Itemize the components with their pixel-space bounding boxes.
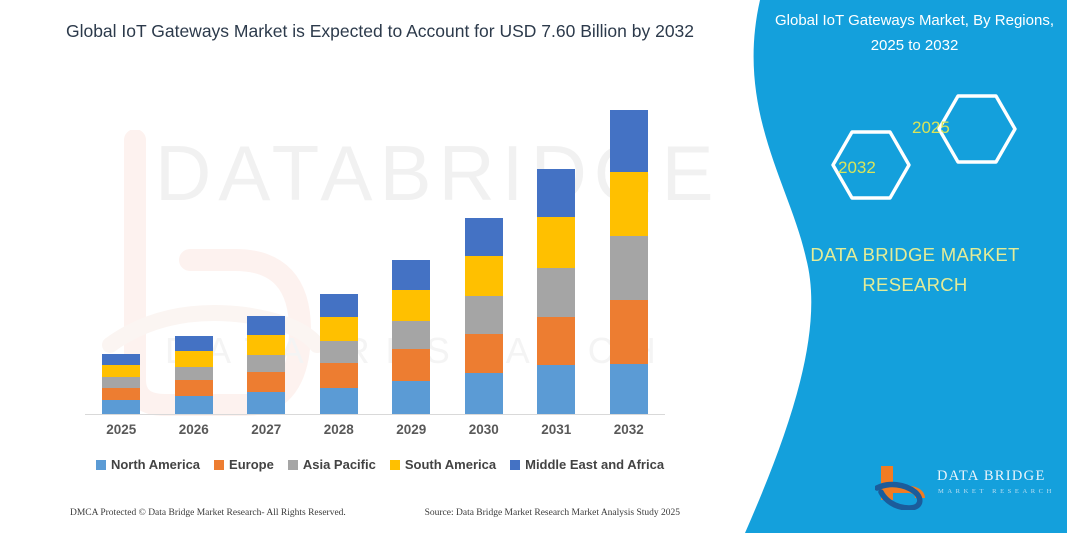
bar-segment[interactable]	[610, 110, 648, 172]
bar-segment[interactable]	[392, 381, 430, 414]
bar-column[interactable]	[158, 110, 231, 414]
x-axis-label: 2027	[230, 422, 303, 437]
logo-text-main: DATA BRIDGE	[937, 468, 1046, 485]
bar-stack[interactable]	[610, 110, 648, 414]
bar-segment[interactable]	[247, 355, 285, 373]
bar-stack[interactable]	[320, 294, 358, 414]
bar-column[interactable]	[593, 110, 666, 414]
brand-name: DATA BRIDGE MARKET RESEARCH	[780, 240, 1050, 300]
x-axis-line	[85, 414, 665, 415]
chart-pane: DATABRIDGE DATA RESEARCH Global IoT Gate…	[0, 0, 760, 533]
panel-title: Global IoT Gateways Market, By Regions, …	[772, 8, 1057, 58]
bar-column[interactable]	[375, 110, 448, 414]
legend-item[interactable]: North America	[96, 457, 200, 472]
x-axis-label: 2029	[375, 422, 448, 437]
footer-source: Source: Data Bridge Market Research Mark…	[425, 508, 680, 518]
bar-group	[85, 110, 665, 414]
plot-area	[85, 110, 665, 415]
bar-segment[interactable]	[610, 236, 648, 299]
bar-segment[interactable]	[537, 217, 575, 268]
bar-segment[interactable]	[175, 351, 213, 367]
bar-segment[interactable]	[537, 169, 575, 217]
bar-stack[interactable]	[537, 169, 575, 414]
legend-label: Middle East and Africa	[525, 457, 664, 472]
bar-segment[interactable]	[102, 388, 140, 401]
bar-segment[interactable]	[537, 365, 575, 414]
bar-segment[interactable]	[247, 372, 285, 392]
bar-segment[interactable]	[537, 268, 575, 317]
bar-segment[interactable]	[465, 296, 503, 334]
bar-segment[interactable]	[175, 367, 213, 381]
bar-segment[interactable]	[392, 349, 430, 381]
legend-label: North America	[111, 457, 200, 472]
bar-stack[interactable]	[175, 336, 213, 414]
logo-text-sub: MARKET RESEARCH	[938, 488, 1055, 495]
bar-column[interactable]	[303, 110, 376, 414]
x-axis-label: 2031	[520, 422, 593, 437]
bar-segment[interactable]	[610, 172, 648, 236]
infographic-canvas: DATABRIDGE DATA RESEARCH Global IoT Gate…	[0, 0, 1067, 533]
legend-item[interactable]: Asia Pacific	[288, 457, 376, 472]
x-axis-label: 2025	[85, 422, 158, 437]
hexagon-outline-icon	[800, 88, 1040, 218]
bar-stack[interactable]	[247, 316, 285, 414]
bar-segment[interactable]	[247, 392, 285, 414]
bar-segment[interactable]	[175, 380, 213, 396]
bar-segment[interactable]	[102, 400, 140, 414]
x-axis-label: 2030	[448, 422, 521, 437]
legend-swatch-icon	[510, 460, 520, 470]
x-axis-label: 2032	[593, 422, 666, 437]
bar-segment[interactable]	[102, 354, 140, 365]
legend-swatch-icon	[288, 460, 298, 470]
footer-copyright: DMCA Protected © Data Bridge Market Rese…	[70, 508, 346, 518]
bar-segment[interactable]	[465, 373, 503, 414]
bar-column[interactable]	[520, 110, 593, 414]
bar-segment[interactable]	[175, 396, 213, 414]
bar-segment[interactable]	[320, 294, 358, 317]
bar-segment[interactable]	[610, 300, 648, 364]
legend-swatch-icon	[96, 460, 106, 470]
bar-segment[interactable]	[392, 290, 430, 321]
company-logo: DATA BRIDGE MARKET RESEARCH	[875, 462, 1065, 514]
hex-label-2025: 2025	[912, 118, 950, 138]
bar-segment[interactable]	[320, 388, 358, 414]
legend-label: South America	[405, 457, 496, 472]
chart-legend: North AmericaEuropeAsia PacificSouth Ame…	[85, 457, 675, 472]
legend-swatch-icon	[214, 460, 224, 470]
brand-name-line1: DATA BRIDGE MARKET	[780, 240, 1050, 270]
bar-segment[interactable]	[102, 365, 140, 377]
legend-item[interactable]: Europe	[214, 457, 274, 472]
x-axis-labels: 20252026202720282029203020312032	[85, 422, 665, 437]
bar-segment[interactable]	[392, 321, 430, 349]
footer: DMCA Protected © Data Bridge Market Rese…	[70, 508, 680, 518]
bar-stack[interactable]	[392, 260, 430, 414]
bar-stack[interactable]	[102, 354, 140, 414]
dbmr-logo-icon	[875, 462, 935, 510]
bar-segment[interactable]	[247, 335, 285, 355]
brand-name-line2: RESEARCH	[780, 270, 1050, 300]
bar-column[interactable]	[85, 110, 158, 414]
bar-segment[interactable]	[537, 317, 575, 365]
brand-panel-content: Global IoT Gateways Market, By Regions, …	[760, 0, 1067, 533]
bar-column[interactable]	[230, 110, 303, 414]
bar-segment[interactable]	[465, 334, 503, 373]
bar-segment[interactable]	[465, 218, 503, 256]
bar-segment[interactable]	[320, 363, 358, 388]
legend-swatch-icon	[390, 460, 400, 470]
legend-item[interactable]: South America	[390, 457, 496, 472]
legend-item[interactable]: Middle East and Africa	[510, 457, 664, 472]
bar-segment[interactable]	[247, 316, 285, 334]
legend-label: Asia Pacific	[303, 457, 376, 472]
bar-segment[interactable]	[610, 364, 648, 414]
hex-label-2032: 2032	[838, 158, 876, 178]
bar-segment[interactable]	[465, 256, 503, 296]
x-axis-label: 2028	[303, 422, 376, 437]
bar-segment[interactable]	[320, 317, 358, 341]
bar-stack[interactable]	[465, 218, 503, 414]
bar-segment[interactable]	[175, 336, 213, 350]
chart-title: Global IoT Gateways Market is Expected t…	[60, 18, 700, 44]
hexagon-badges	[800, 88, 1040, 218]
bar-segment[interactable]	[392, 260, 430, 290]
bar-segment[interactable]	[320, 341, 358, 363]
bar-segment[interactable]	[102, 377, 140, 387]
bar-column[interactable]	[448, 110, 521, 414]
x-axis-label: 2026	[158, 422, 231, 437]
legend-label: Europe	[229, 457, 274, 472]
